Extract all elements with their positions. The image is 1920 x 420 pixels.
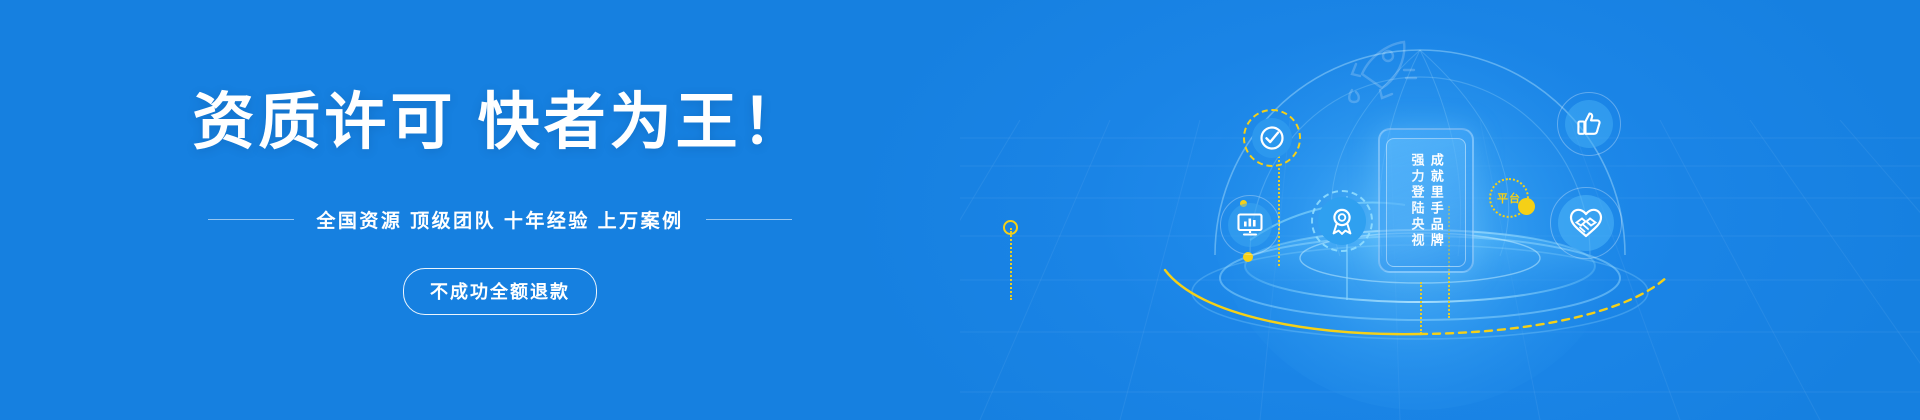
hero-subtitle: 全国资源 顶级团队 十年经验 上万案例 <box>316 206 683 233</box>
divider-right <box>706 219 792 220</box>
tablet-card: 强力登陆央视 成就里手品牌 <box>1378 128 1474 273</box>
soft-ring <box>1550 187 1622 259</box>
ring-marker-yellow <box>1003 220 1018 235</box>
tablet-screen: 强力登陆央视 成就里手品牌 <box>1386 138 1466 267</box>
soft-ring <box>1220 195 1280 255</box>
soft-ring <box>1557 92 1621 156</box>
tablet-slogan-right: 成就里手品牌 <box>1429 153 1443 249</box>
dashed-ring-cyan <box>1311 190 1373 252</box>
check-circle-badge <box>1252 118 1292 158</box>
hero-copy: 资质许可 快者为王！ 全国资源 顶级团队 十年经验 上万案例 不成功全额退款 <box>0 0 1000 420</box>
connector-line-monitor <box>1010 228 1012 300</box>
divider-left <box>208 219 294 220</box>
cta-container: 不成功全额退款 <box>0 268 1000 315</box>
page-title: 资质许可 快者为王！ <box>0 92 1000 154</box>
hero-banner: 资质许可 快者为王！ 全国资源 顶级团队 十年经验 上万案例 不成功全额退款 <box>0 0 1920 420</box>
tablet-slogan-left: 强力登陆央视 <box>1409 153 1423 249</box>
monitor-chart-badge <box>1228 203 1272 247</box>
subtitle-row: 全国资源 顶级团队 十年经验 上万案例 <box>0 206 1000 233</box>
award-medal-badge <box>1318 197 1366 245</box>
platform-bubble: 平台 <box>1489 178 1529 218</box>
thumbs-up-badge <box>1565 100 1613 148</box>
handshake-heart-badge <box>1558 195 1614 251</box>
connector-line-short <box>1420 282 1422 334</box>
dashed-ring <box>1243 109 1301 167</box>
refund-guarantee-button[interactable]: 不成功全额退款 <box>403 268 597 315</box>
